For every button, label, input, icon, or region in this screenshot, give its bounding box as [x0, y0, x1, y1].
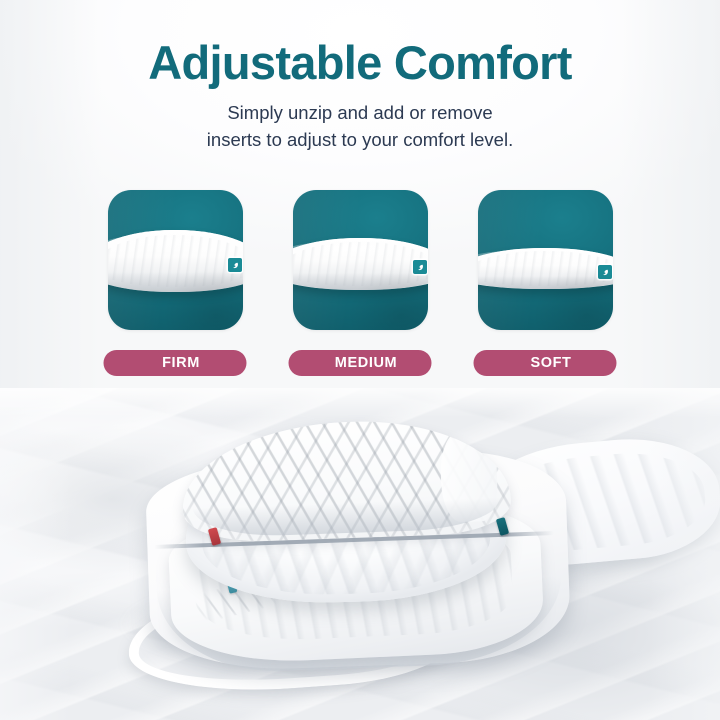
page-title: Adjustable Comfort	[0, 38, 720, 87]
option-card-medium	[293, 190, 428, 330]
badge-soft: SOFT	[474, 350, 617, 376]
pillow-highlight	[293, 241, 426, 259]
page-subtitle: Simply unzip and add or remove inserts t…	[0, 100, 720, 153]
option-medium[interactable]: MEDIUM	[293, 190, 428, 330]
pillow-highlight	[108, 234, 241, 255]
pillow-illustration-soft	[478, 248, 613, 289]
badge-medium: MEDIUM	[289, 350, 432, 376]
option-soft[interactable]: SOFT	[478, 190, 613, 330]
pillow-illustration-medium	[293, 238, 428, 290]
subtitle-line-1: Simply unzip and add or remove	[0, 100, 720, 126]
badge-label: SOFT	[530, 355, 571, 371]
pillow-shape	[108, 230, 243, 292]
swan-logo-icon	[228, 258, 242, 272]
hero-product-photo	[0, 388, 720, 720]
badge-firm: FIRM	[104, 350, 247, 376]
pillow-underside-shadow	[478, 276, 613, 289]
pillow-underside-shadow	[293, 273, 428, 290]
pillow-underside-shadow	[108, 272, 243, 292]
infographic-canvas: Adjustable Comfort Simply unzip and add …	[0, 0, 720, 720]
badge-label: MEDIUM	[335, 355, 397, 371]
header-block: Adjustable Comfort Simply unzip and add …	[0, 38, 720, 153]
pillow-shape	[293, 238, 428, 290]
pillow-creases	[293, 242, 428, 286]
firmness-options: FIRM	[0, 190, 720, 330]
option-firm[interactable]: FIRM	[108, 190, 243, 330]
pillow-shape	[478, 248, 613, 289]
swan-logo-icon	[413, 260, 427, 274]
pillow-highlight	[478, 250, 611, 264]
pillow-illustration-firm	[108, 230, 243, 292]
subtitle-line-2: inserts to adjust to your comfort level.	[0, 127, 720, 153]
pillow-creases	[478, 251, 613, 285]
pillow-creases	[108, 235, 243, 287]
option-card-firm	[108, 190, 243, 330]
badge-label: FIRM	[162, 355, 200, 371]
unzipped-cover-flap	[180, 416, 512, 543]
swan-logo-icon	[598, 265, 612, 279]
option-card-soft	[478, 190, 613, 330]
